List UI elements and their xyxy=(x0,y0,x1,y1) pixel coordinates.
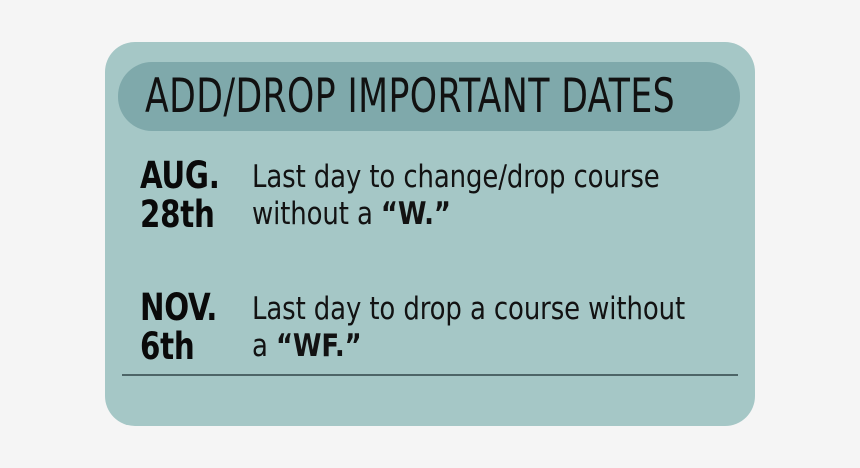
entry-description-emphasis: “W.” xyxy=(381,196,451,232)
important-dates-card: ADD/DROP IMPORTANT DATES AUG. 28th Last … xyxy=(105,42,755,426)
card-header-banner: ADD/DROP IMPORTANT DATES xyxy=(118,62,740,131)
entry-month: AUG. xyxy=(140,156,239,195)
entry-day: 28th xyxy=(140,195,239,234)
entry-date-block: AUG. 28th xyxy=(140,156,252,234)
entry-description: Last day to change/drop course without a… xyxy=(252,156,737,233)
page-title: ADD/DROP IMPORTANT DATES xyxy=(145,73,675,120)
entry-description: Last day to drop a course without a “WF.… xyxy=(252,288,737,365)
page-root: ADD/DROP IMPORTANT DATES AUG. 28th Last … xyxy=(0,0,860,468)
entry-month: NOV. xyxy=(140,288,239,327)
entry-day: 6th xyxy=(140,327,239,366)
list-divider xyxy=(122,374,738,376)
entry-description-emphasis: “WF.” xyxy=(276,328,362,364)
dates-list: AUG. 28th Last day to change/drop course… xyxy=(105,146,755,386)
entry-description-text: Last day to change/drop course without a xyxy=(252,159,660,232)
list-item: AUG. 28th Last day to change/drop course… xyxy=(105,146,755,266)
list-item: NOV. 6th Last day to drop a course witho… xyxy=(105,266,755,386)
entry-date-block: NOV. 6th xyxy=(140,288,252,366)
